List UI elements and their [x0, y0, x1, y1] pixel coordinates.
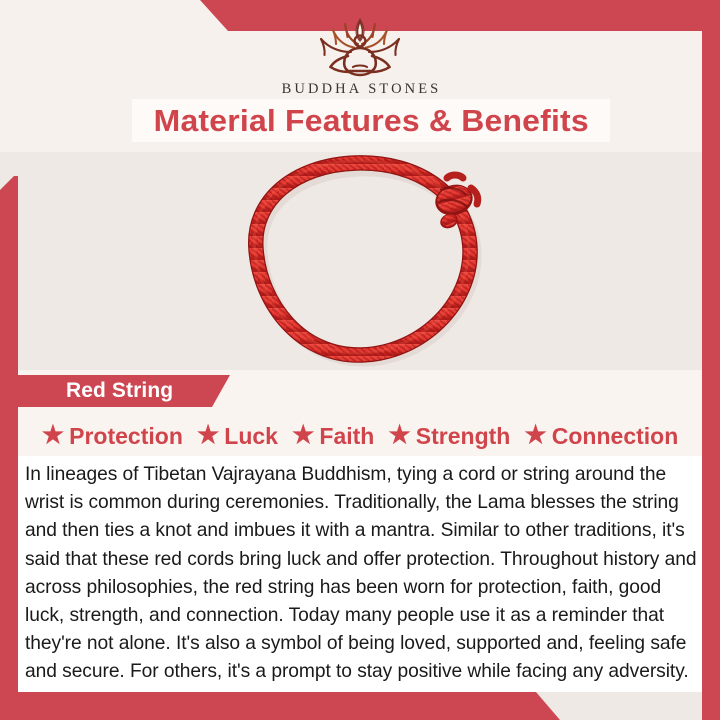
- benefit-item-strength: ★ Strength: [383, 423, 515, 450]
- benefit-label: Faith: [319, 423, 374, 450]
- decorative-bar-bottom: [0, 692, 560, 720]
- star-icon: ★: [292, 423, 314, 448]
- page-title: Material Features & Benefits: [153, 103, 588, 139]
- brand-logo: BUDDHA STONES: [0, 14, 720, 98]
- star-icon: ★: [197, 423, 219, 448]
- benefit-label: Connection: [552, 423, 679, 450]
- red-string-bracelet-image: [223, 152, 503, 370]
- benefit-item-faith: ★ Faith: [287, 423, 379, 450]
- benefit-label: Strength: [416, 423, 511, 450]
- section-label-text: Red String: [18, 379, 173, 403]
- decorative-bar-right: [702, 0, 720, 720]
- benefit-label: Luck: [224, 423, 278, 450]
- star-icon: ★: [388, 423, 410, 448]
- brand-name: BUDDHA STONES: [279, 81, 442, 98]
- star-icon: ★: [524, 423, 546, 448]
- benefit-item-connection: ★ Connection: [519, 423, 683, 450]
- benefit-item-luck: ★ Luck: [192, 423, 283, 450]
- section-label-ribbon: Red String: [18, 375, 230, 407]
- benefit-item-protection: ★ Protection: [37, 423, 188, 450]
- bracelet-cord: [254, 161, 470, 355]
- description-text: In lineages of Tibetan Vajrayana Buddhis…: [25, 461, 697, 687]
- benefit-label: Protection: [69, 423, 183, 450]
- lotus-meditation-icon: [302, 14, 418, 78]
- star-icon: ★: [42, 423, 64, 448]
- product-photo: [223, 152, 503, 370]
- decorative-bar-left: [0, 176, 18, 720]
- benefits-list: ★ Protection ★ Luck ★ Faith ★ Strength ★…: [18, 419, 702, 453]
- description-panel: In lineages of Tibetan Vajrayana Buddhis…: [18, 456, 702, 692]
- page-title-band: Material Features & Benefits: [132, 99, 610, 142]
- poster-root: BUDDHA STONES Material Features & Benefi…: [0, 0, 720, 720]
